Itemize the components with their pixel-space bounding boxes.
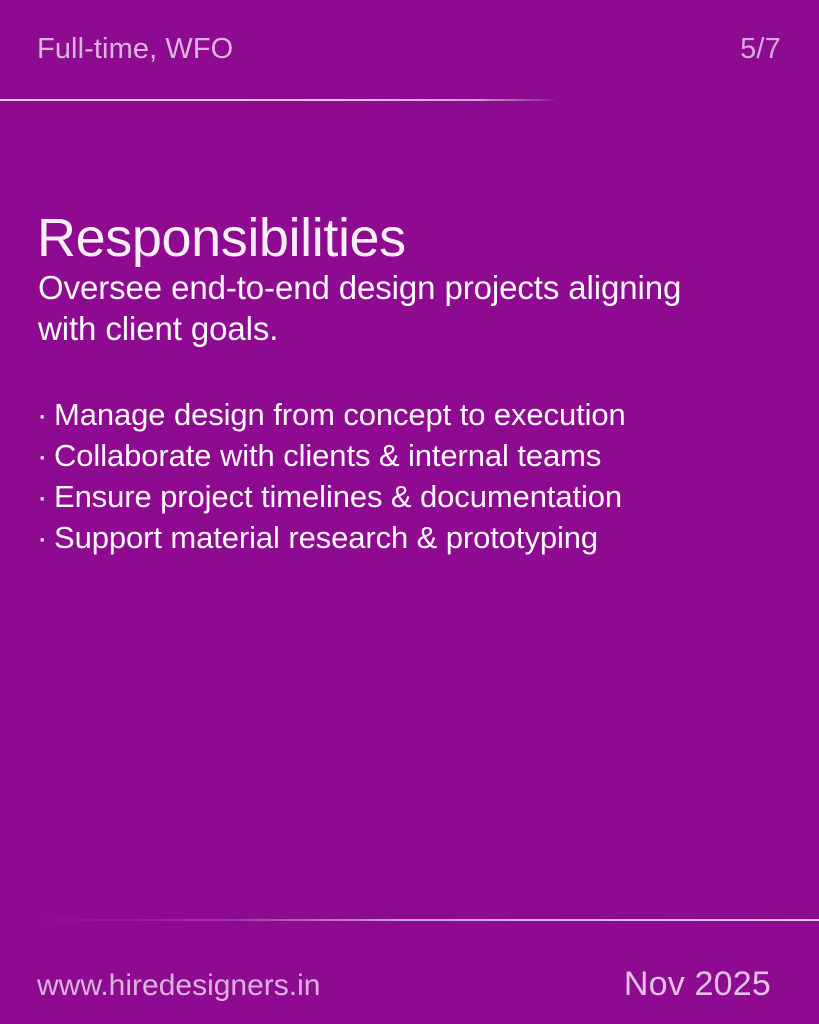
list-item-label: Manage design from concept to execution: [54, 397, 626, 432]
list-item: ·Manage design from concept to execution: [37, 394, 777, 435]
lede-paragraph: Oversee end-to-end design projects align…: [38, 267, 758, 349]
date-label: Nov 2025: [624, 965, 771, 1004]
bullet-dot-icon: ·: [37, 517, 54, 558]
list-item-label: Support material research & prototyping: [54, 520, 598, 555]
list-item: ·Ensure project timelines & documentatio…: [37, 476, 777, 517]
page-indicator: 5/7: [740, 33, 781, 66]
list-item-label: Collaborate with clients & internal team…: [54, 438, 601, 473]
bullet-dot-icon: ·: [37, 476, 54, 517]
list-item: ·Collaborate with clients & internal tea…: [37, 435, 777, 476]
page-title: Responsibilities: [37, 211, 406, 265]
job-type-label: Full-time, WFO: [37, 33, 233, 66]
bullet-dot-icon: ·: [37, 394, 54, 435]
list-item-label: Ensure project timelines & documentation: [54, 479, 622, 514]
website-url[interactable]: www.hiredesigners.in: [37, 969, 320, 1003]
slide-root: Full-time, WFO 5/7 Responsibilities Over…: [0, 0, 819, 1024]
slide-header: Full-time, WFO 5/7: [0, 0, 819, 100]
list-item: ·Support material research & prototyping: [37, 517, 777, 558]
lede-line: with client goals.: [38, 308, 758, 349]
bullet-dot-icon: ·: [37, 435, 54, 476]
responsibilities-list: ·Manage design from concept to execution…: [37, 394, 777, 558]
slide-footer: www.hiredesigners.in Nov 2025: [0, 919, 819, 1024]
header-divider: [0, 99, 819, 101]
footer-divider: [0, 919, 819, 921]
lede-line: Oversee end-to-end design projects align…: [38, 267, 758, 308]
